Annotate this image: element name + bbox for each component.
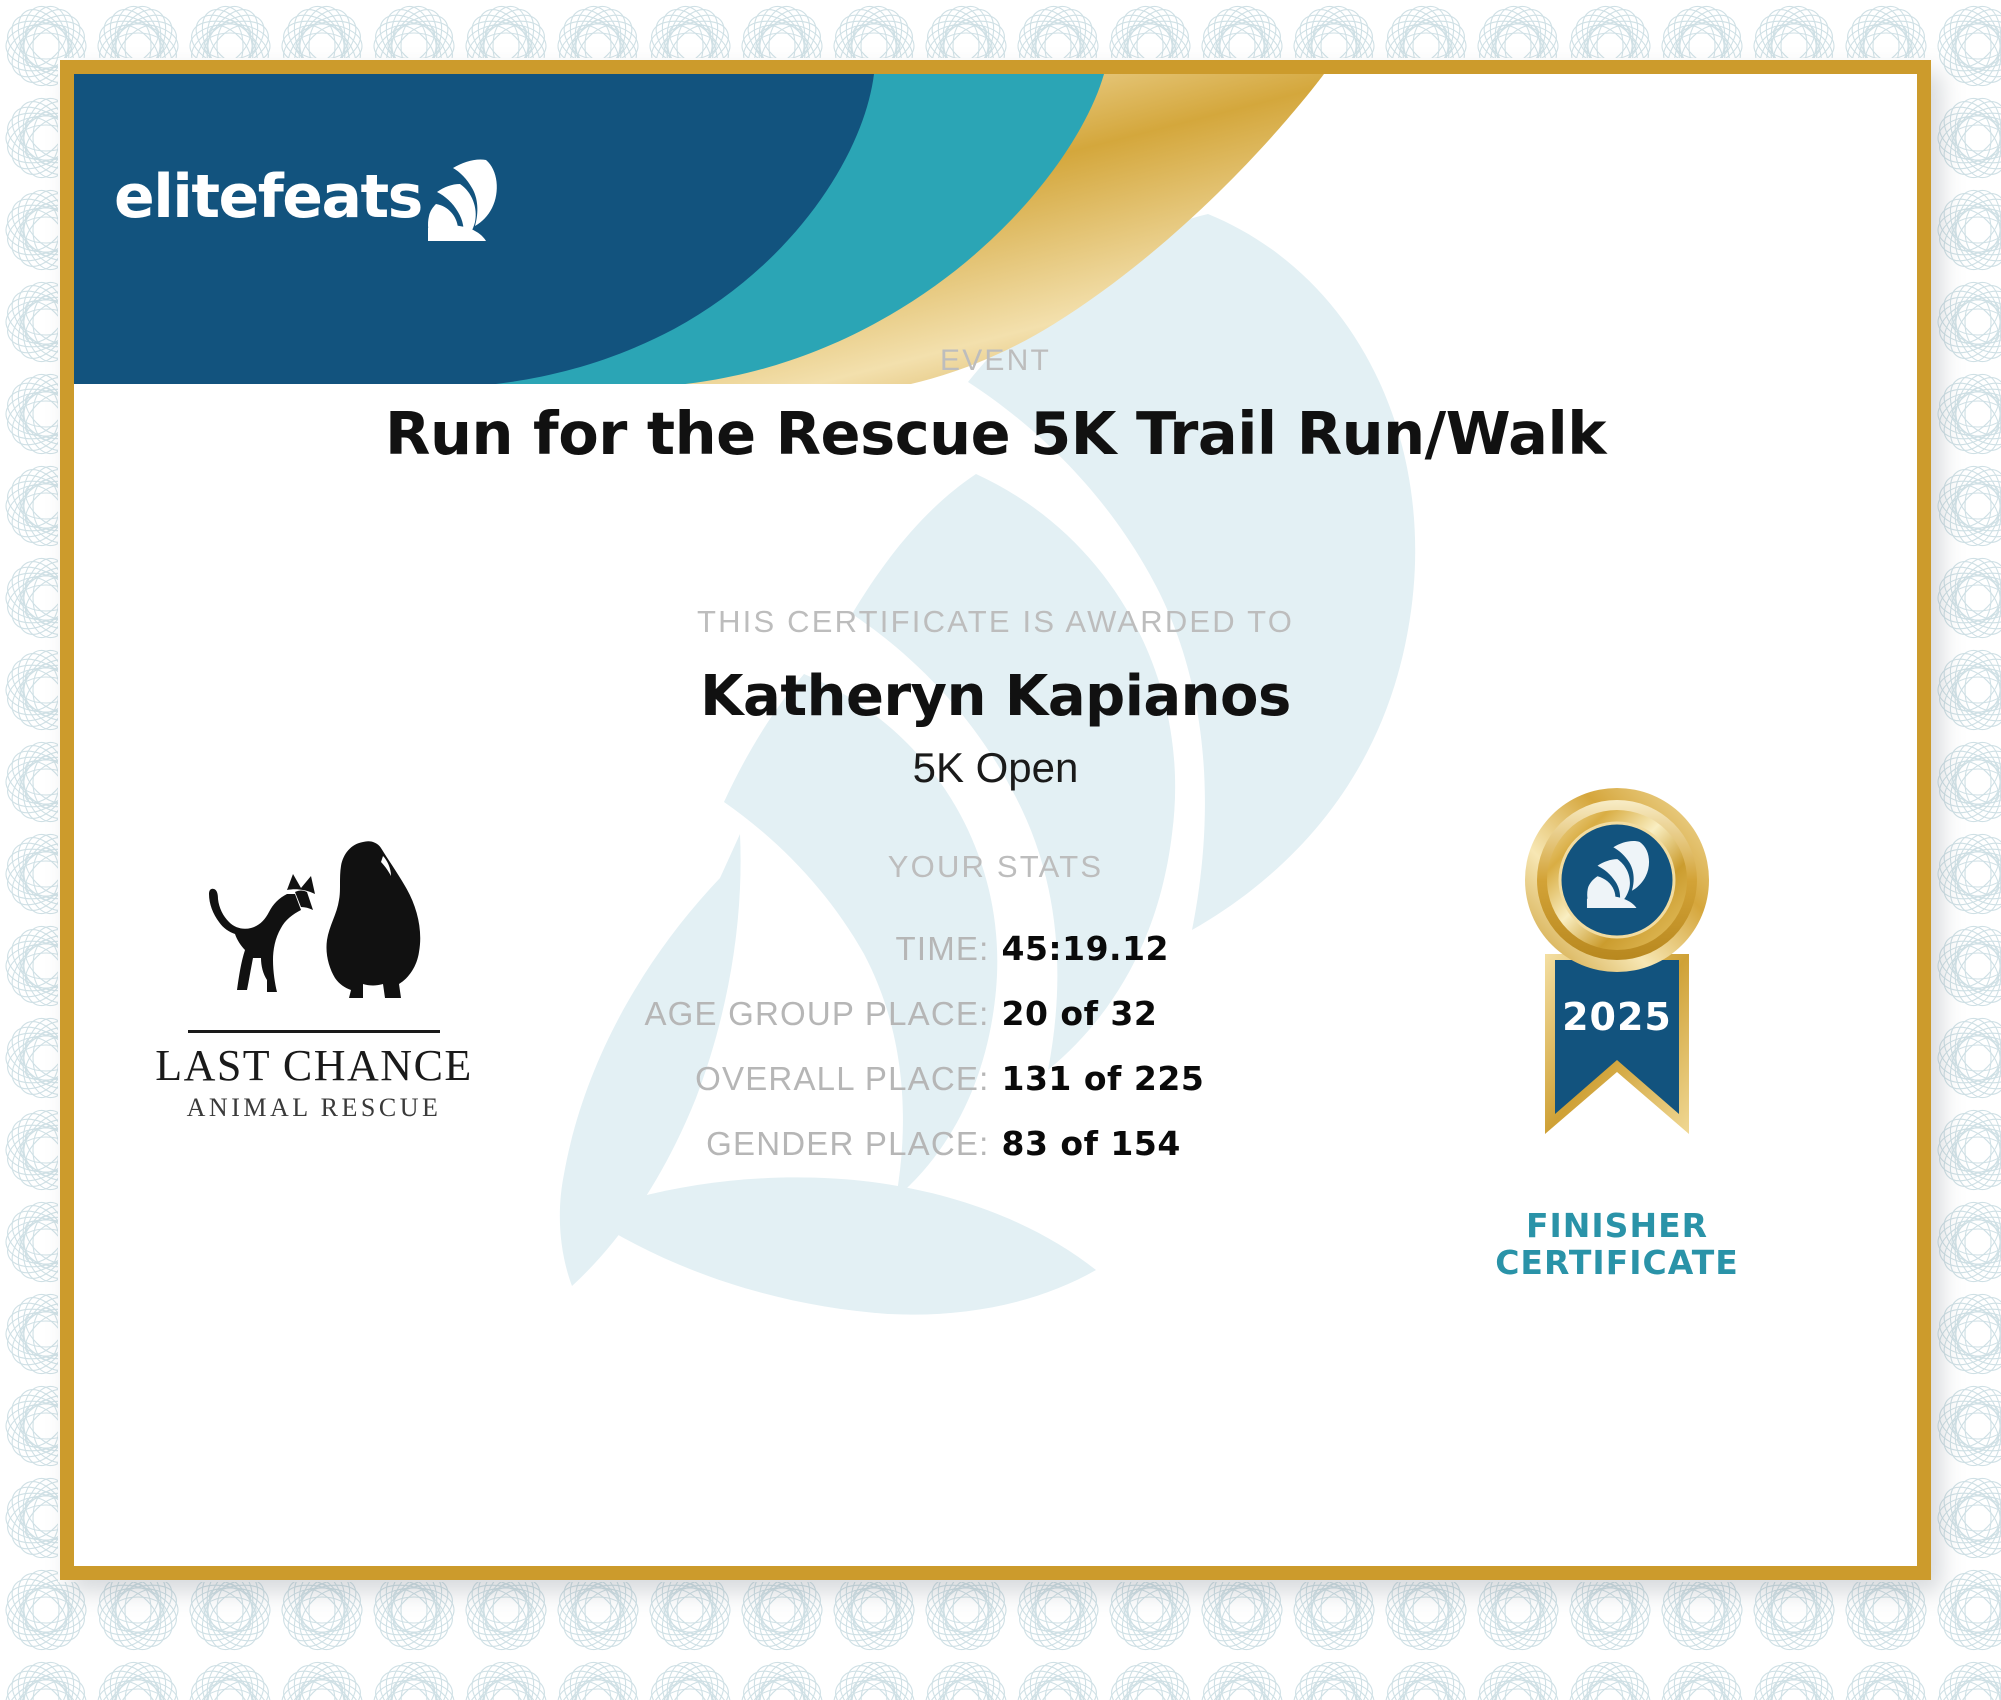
badge-caption-line1: FINISHER	[1447, 1208, 1787, 1245]
stat-key-overall-place: OVERALL PLACE:	[400, 1060, 1002, 1098]
sponsor-subtitle: ANIMAL RESCUE	[149, 1093, 479, 1123]
badge-year: 2025	[1562, 995, 1672, 1039]
finisher-badge: 2025 FINISHER CERTIFICATE	[1447, 784, 1787, 1282]
sponsor-divider	[188, 1030, 440, 1033]
cat-and-dog-silhouette-icon	[187, 834, 442, 1024]
badge-caption-line2: CERTIFICATE	[1447, 1245, 1787, 1282]
brand-logo: elitefeats	[114, 152, 504, 242]
winged-foot-icon	[426, 158, 504, 242]
event-label: EVENT	[74, 344, 1917, 378]
event-title: Run for the Rescue 5K Trail Run/Walk	[74, 399, 1917, 468]
gold-medal-rosette-icon: 2025	[1467, 784, 1767, 1204]
recipient-name: Katheryn Kapianos	[74, 664, 1917, 729]
awarded-to-label: THIS CERTIFICATE IS AWARDED TO	[74, 604, 1917, 640]
brand-wordmark: elitefeats	[114, 162, 422, 232]
certificate-inner: elitefeats EVENT Run for the Rescue 5K T…	[74, 74, 1917, 1566]
sponsor-name: LAST CHANCE	[149, 1043, 479, 1089]
sponsor-logo: LAST CHANCE ANIMAL RESCUE	[149, 834, 479, 1123]
badge-caption: FINISHER CERTIFICATE	[1447, 1208, 1787, 1282]
stat-key-gender-place: GENDER PLACE:	[400, 1125, 1002, 1163]
stat-key-time: TIME:	[400, 930, 1002, 968]
certificate-card: elitefeats EVENT Run for the Rescue 5K T…	[60, 60, 1931, 1580]
stat-key-age-group-place: AGE GROUP PLACE:	[400, 995, 1002, 1033]
